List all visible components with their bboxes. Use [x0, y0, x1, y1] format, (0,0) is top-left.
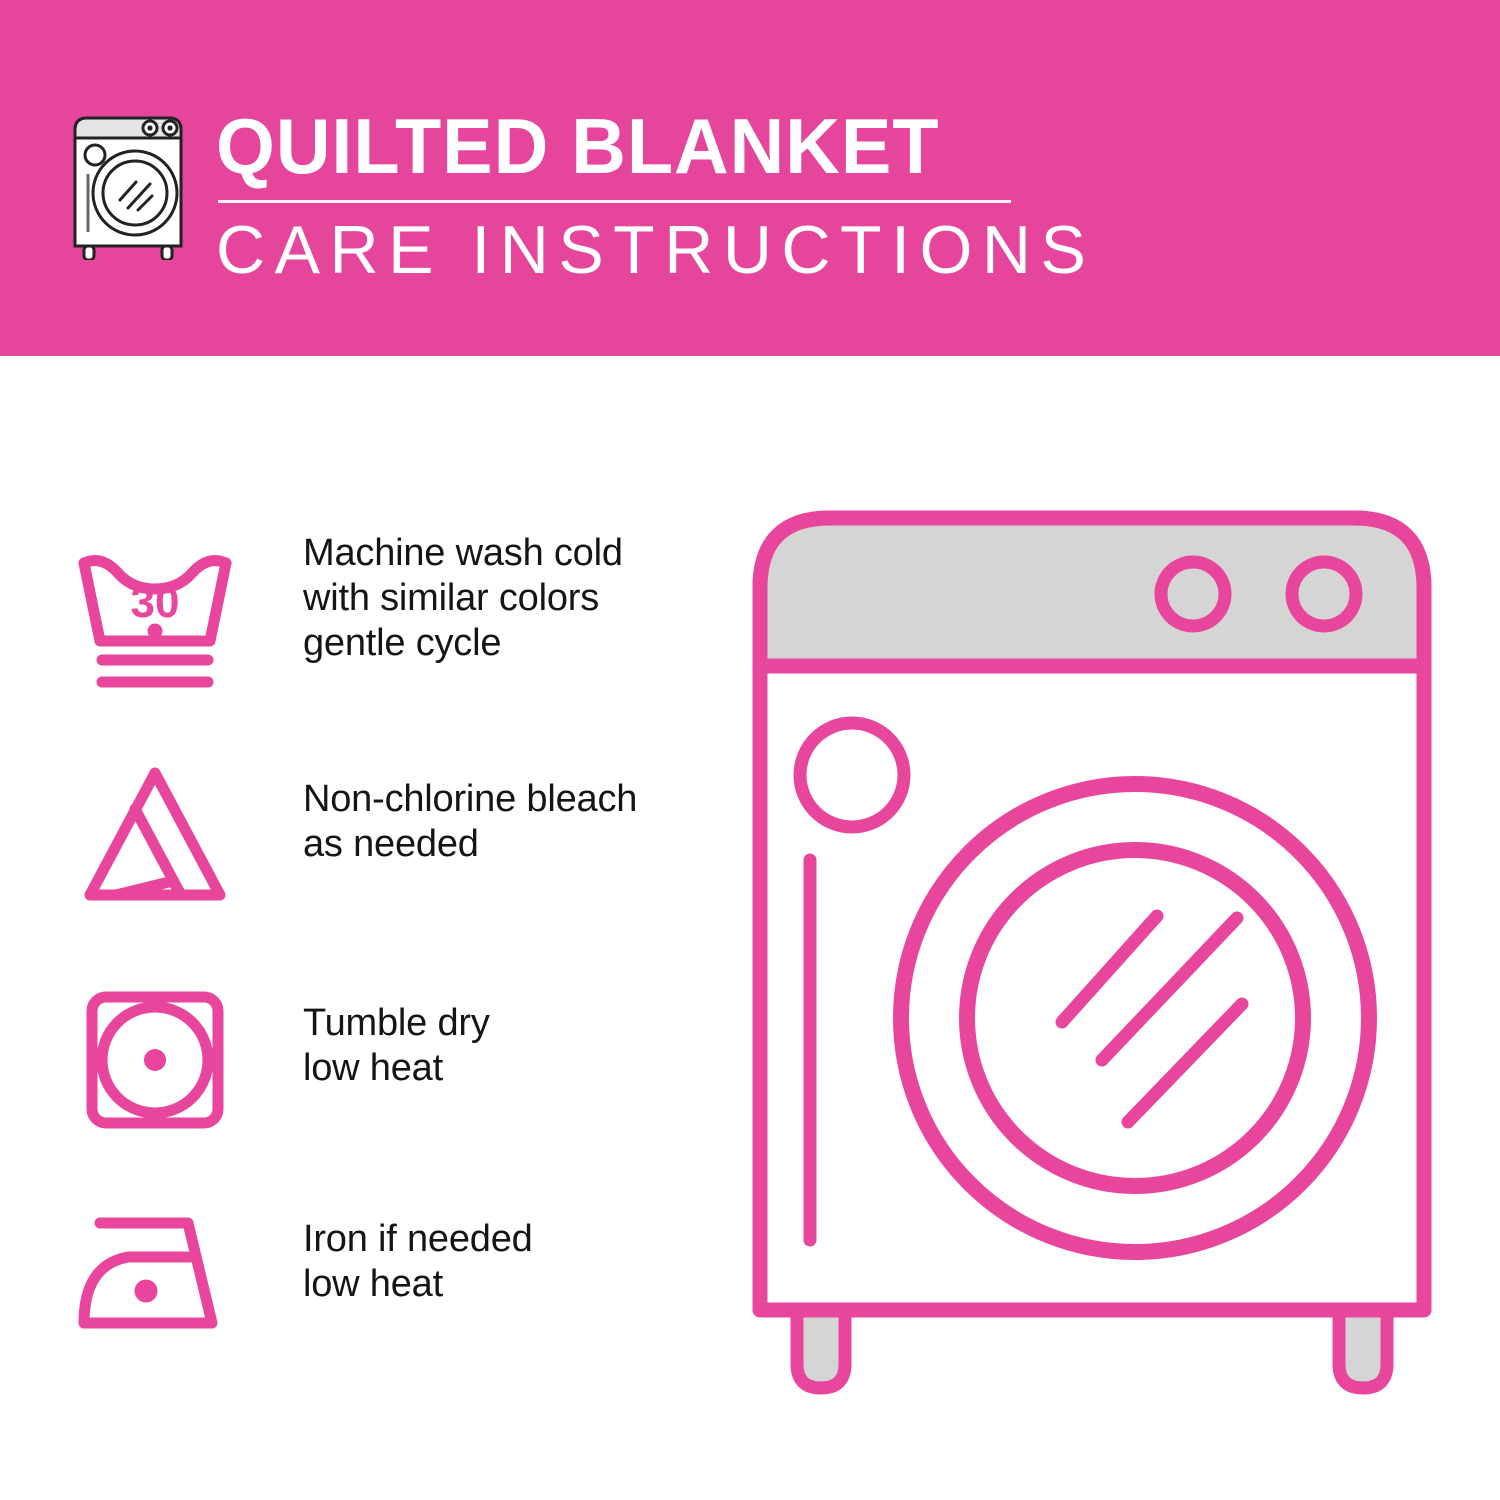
- knob-left: [1161, 562, 1225, 626]
- header-band: QUILTED BLANKET CARE INSTRUCTIONS: [0, 0, 1500, 356]
- front-load-washing-machine-illustration: [742, 498, 1442, 1428]
- list-item: 30 Machine wash cold with similar colors…: [70, 505, 710, 729]
- page-title: QUILTED BLANKET: [216, 104, 1011, 188]
- washing-machine-icon: [66, 108, 190, 260]
- wash-temperature-value: 30: [131, 578, 180, 627]
- detergent-dispenser: [800, 723, 904, 827]
- non-chlorine-bleach-triangle-icon: [70, 751, 240, 921]
- wash-tub-30-gentle-icon: 30: [70, 525, 240, 695]
- knob-right: [1292, 562, 1356, 626]
- list-item-label: Iron if needed low heat: [303, 1217, 533, 1307]
- care-instruction-list: 30 Machine wash cold with similar colors…: [70, 505, 710, 1401]
- list-item: Tumble dry low heat: [70, 953, 710, 1177]
- list-item-label: Machine wash cold with similar colors ge…: [303, 531, 623, 666]
- title-divider: [218, 200, 1011, 203]
- care-instructions-poster: QUILTED BLANKET CARE INSTRUCTIONS 30: [0, 0, 1500, 1500]
- iron-low-heat-icon: [70, 1205, 240, 1345]
- header-text-block: QUILTED BLANKET CARE INSTRUCTIONS: [216, 104, 1036, 287]
- list-item: Iron if needed low heat: [70, 1177, 710, 1401]
- page-subtitle: CARE INSTRUCTIONS: [216, 213, 1036, 287]
- list-item-label: Tumble dry low heat: [303, 1001, 490, 1091]
- list-item: Non-chlorine bleach as needed: [70, 729, 710, 953]
- tumble-dry-low-heat-icon: [70, 975, 240, 1145]
- list-item-label: Non-chlorine bleach as needed: [303, 777, 637, 867]
